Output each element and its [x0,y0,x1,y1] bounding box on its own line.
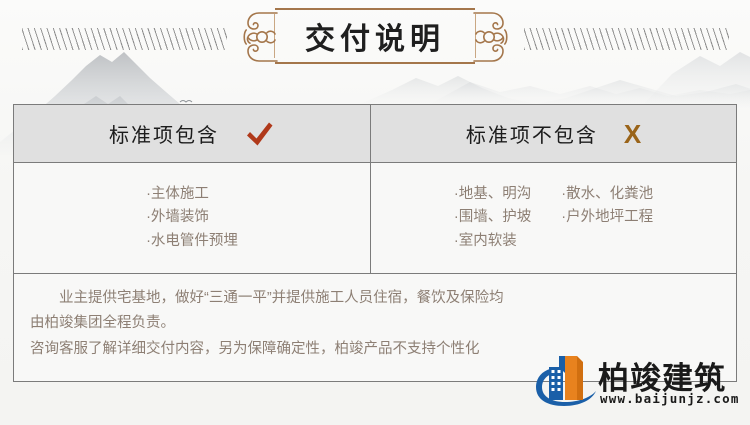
table-header-row: 标准项包含 标准项不包含 X [14,105,736,163]
watermark-url: www.baijunjz.com [600,391,740,406]
header-cell-excluded: 标准项不包含 X [371,105,736,162]
body-cell-included: ·主体施工 ·外墙装饰 ·水电管件预埋 [14,163,371,273]
page-title-plaque: 交付说明 [243,6,508,68]
list-item: ·户外地坪工程 [561,206,653,229]
list-item: ·室内软装 [454,230,531,253]
cloud-scroll-ornament-left [243,10,279,64]
list-item: ·散水、化粪池 [561,183,653,206]
excluded-items-list-1: ·地基、明沟 ·围墙、护坡 ·室内软装 [454,183,531,253]
list-item: ·水电管件预埋 [146,230,238,253]
excluded-header-label: 标准项不包含 [466,119,598,148]
excluded-items-columns: ·地基、明沟 ·围墙、护坡 ·室内软装 ·散水、化粪池 ·户外地坪工程 [454,183,653,253]
x-mark-icon: X [624,121,641,147]
list-item: ·主体施工 [146,183,238,206]
check-mark-icon [245,121,275,147]
delivery-spec-table: 标准项包含 标准项不包含 X ·主体施工 ·外墙装饰 ·水电管件预埋 [13,104,737,382]
poster-root: 交付说明 [0,0,750,425]
header-cell-included: 标准项包含 [14,105,371,162]
plaque-frame: 交付说明 [275,8,475,64]
included-header-label: 标准项包含 [109,119,219,148]
note-line-1: 业主提供宅基地，做好“三通一平”并提供施工人员住宿，餐饮及保险均 [30,286,720,311]
list-item: ·地基、明沟 [454,183,531,206]
building-logo-icon [528,353,602,409]
hatch-rule-left [22,28,227,50]
excluded-items-list-2: ·散水、化粪池 ·户外地坪工程 [561,183,653,253]
note-line-2: 由柏竣集团全程负责。 [30,311,720,336]
hatch-rule-right [524,28,729,50]
table-body-row: ·主体施工 ·外墙装饰 ·水电管件预埋 ·地基、明沟 ·围墙、护坡 ·室内软装 … [14,163,736,274]
list-item: ·围墙、护坡 [454,206,531,229]
watermark: 柏竣建筑 www.baijunjz.com [528,349,746,413]
list-item: ·外墙装饰 [146,206,238,229]
body-cell-excluded: ·地基、明沟 ·围墙、护坡 ·室内软装 ·散水、化粪池 ·户外地坪工程 [371,163,736,273]
cloud-scroll-ornament-right [472,10,508,64]
included-items-list: ·主体施工 ·外墙装饰 ·水电管件预埋 [146,183,238,253]
page-title: 交付说明 [275,14,475,58]
